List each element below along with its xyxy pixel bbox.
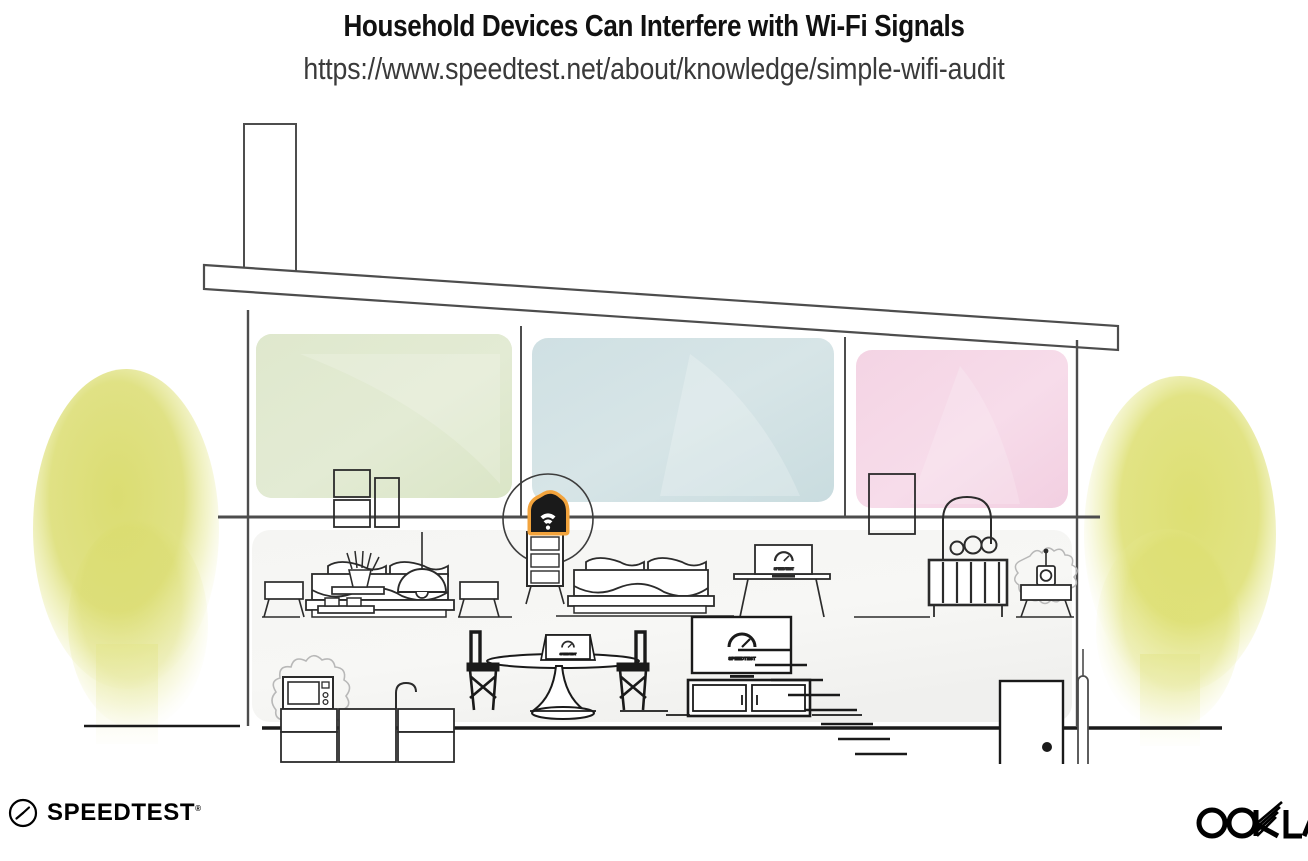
side-window xyxy=(1078,649,1088,764)
chimney xyxy=(244,124,296,279)
entry-door xyxy=(1000,681,1063,764)
ookla-logo xyxy=(1190,800,1308,845)
speedtest-logo: SPEEDTEST® xyxy=(8,798,202,828)
speedtest-gauge-icon xyxy=(8,798,38,828)
speedtest-wordmark: SPEEDTEST® xyxy=(47,799,202,827)
source-url: https://www.speedtest.net/about/knowledg… xyxy=(92,44,1217,87)
laptop-on-table: SPEEDTEST xyxy=(541,635,595,660)
door-knob-icon xyxy=(1042,742,1052,752)
registered-trademark-icon: ® xyxy=(195,804,202,813)
living-room-tv: SPEEDTEST xyxy=(692,617,791,678)
media-console xyxy=(688,680,810,716)
microwave xyxy=(283,677,333,709)
house-illustration: SPEEDTEST xyxy=(0,104,1308,764)
monitor-brand-text: SPEEDTEST xyxy=(774,567,795,571)
room-bg-nursery xyxy=(856,350,1068,508)
bed-master xyxy=(568,558,714,613)
laptop-brand-text: SPEEDTEST xyxy=(560,652,577,656)
page-title: Household Devices Can Interfere with Wi-… xyxy=(105,0,1204,44)
tree-left-foliage xyxy=(33,369,219,744)
room-bg-bedroom-left xyxy=(256,334,512,498)
footer: SPEEDTEST® xyxy=(0,770,1308,861)
monitor-upstairs: SPEEDTEST xyxy=(755,545,812,578)
speedtest-brand-text: SPEEDTEST xyxy=(47,799,195,826)
room-bg-bedroom-right xyxy=(532,338,834,502)
tree-right-foliage xyxy=(1084,376,1276,746)
wifi-router-icon xyxy=(531,494,566,532)
ookla-wordmark xyxy=(1190,800,1308,840)
header: Household Devices Can Interfere with Wi-… xyxy=(0,0,1308,87)
infographic-root: Household Devices Can Interfere with Wi-… xyxy=(0,0,1308,861)
tv-brand-text: SPEEDTEST xyxy=(728,656,756,661)
